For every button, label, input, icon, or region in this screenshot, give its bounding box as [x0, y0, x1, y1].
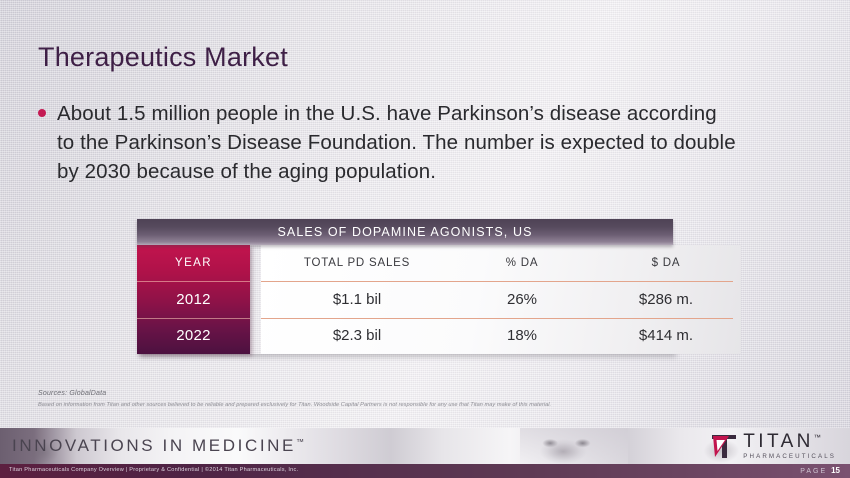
- data-columns: TOTAL PD SALES % DA $ DA $1.1 bil 26% $2…: [261, 245, 741, 354]
- table-banner-title: SALES OF DOPAMINE AGONISTS, US: [137, 219, 673, 245]
- sales-table: SALES OF DOPAMINE AGONISTS, US YEAR 2012…: [137, 219, 673, 354]
- footer-tagline-text: INNOVATIONS IN MEDICINE: [12, 436, 296, 455]
- disclaimer-line: Based on information from Titan and othe…: [38, 402, 728, 408]
- bullet-dot-icon: [38, 109, 46, 117]
- titan-logo: TITAN™ PHARMACEUTICALS: [709, 431, 836, 461]
- cell-total-pd-sales: $1.1 bil: [261, 291, 453, 308]
- slide-footer: INNOVATIONS IN MEDICINE™ TITAN™ PHARMACE…: [0, 428, 850, 478]
- page-label: PAGE: [800, 468, 827, 475]
- titan-subtitle: PHARMACEUTICALS: [743, 454, 836, 460]
- footer-tagline: INNOVATIONS IN MEDICINE™: [12, 436, 304, 456]
- bullet-text: About 1.5 million people in the U.S. hav…: [57, 99, 738, 186]
- column-header-pct-da: % DA: [453, 257, 591, 269]
- copyright-text: Titan Pharmaceuticals Company Overview |…: [9, 467, 298, 473]
- cell-pct-da: 26%: [453, 291, 591, 308]
- page-number: 15: [831, 466, 840, 475]
- trademark-icon: ™: [814, 435, 821, 442]
- sources-block: Sources: GlobalData Based on information…: [38, 390, 728, 408]
- titan-wordmark: TITAN™ PHARMACEUTICALS: [743, 432, 836, 460]
- cell-dollar-da: $286 m.: [591, 291, 741, 308]
- titan-word-text: TITAN: [743, 431, 813, 452]
- table-row: $1.1 bil 26% $286 m.: [261, 281, 741, 317]
- table-header-row: TOTAL PD SALES % DA $ DA: [261, 245, 741, 281]
- column-header-total-pd-sales: TOTAL PD SALES: [261, 257, 453, 269]
- cell-total-pd-sales: $2.3 bil: [261, 327, 453, 344]
- bullet-item: About 1.5 million people in the U.S. hav…: [38, 99, 738, 186]
- cell-pct-da: 18%: [453, 327, 591, 344]
- table-row: 2012: [137, 281, 250, 317]
- column-header-year: YEAR: [137, 245, 250, 281]
- page-title: Therapeutics Market: [38, 42, 288, 73]
- cell-dollar-da: $414 m.: [591, 327, 741, 344]
- table-body: YEAR 2012 2022 TOTAL PD SALES % DA $ DA …: [137, 245, 673, 354]
- page-indicator: PAGE 15: [800, 466, 840, 475]
- footer-face-center: [520, 428, 628, 466]
- source-line: Sources: GlobalData: [38, 390, 728, 397]
- table-row: 2022: [137, 318, 250, 354]
- column-header-dollar-da: $ DA: [591, 257, 741, 269]
- titan-mark-icon: [709, 431, 739, 461]
- copyright-bar: Titan Pharmaceuticals Company Overview |…: [0, 464, 850, 478]
- table-row: $2.3 bil 18% $414 m.: [261, 318, 741, 354]
- titan-word: TITAN™: [743, 432, 836, 451]
- slide: Therapeutics Market About 1.5 million pe…: [0, 0, 850, 478]
- trademark-icon: ™: [296, 437, 304, 446]
- year-column: YEAR 2012 2022: [137, 245, 250, 354]
